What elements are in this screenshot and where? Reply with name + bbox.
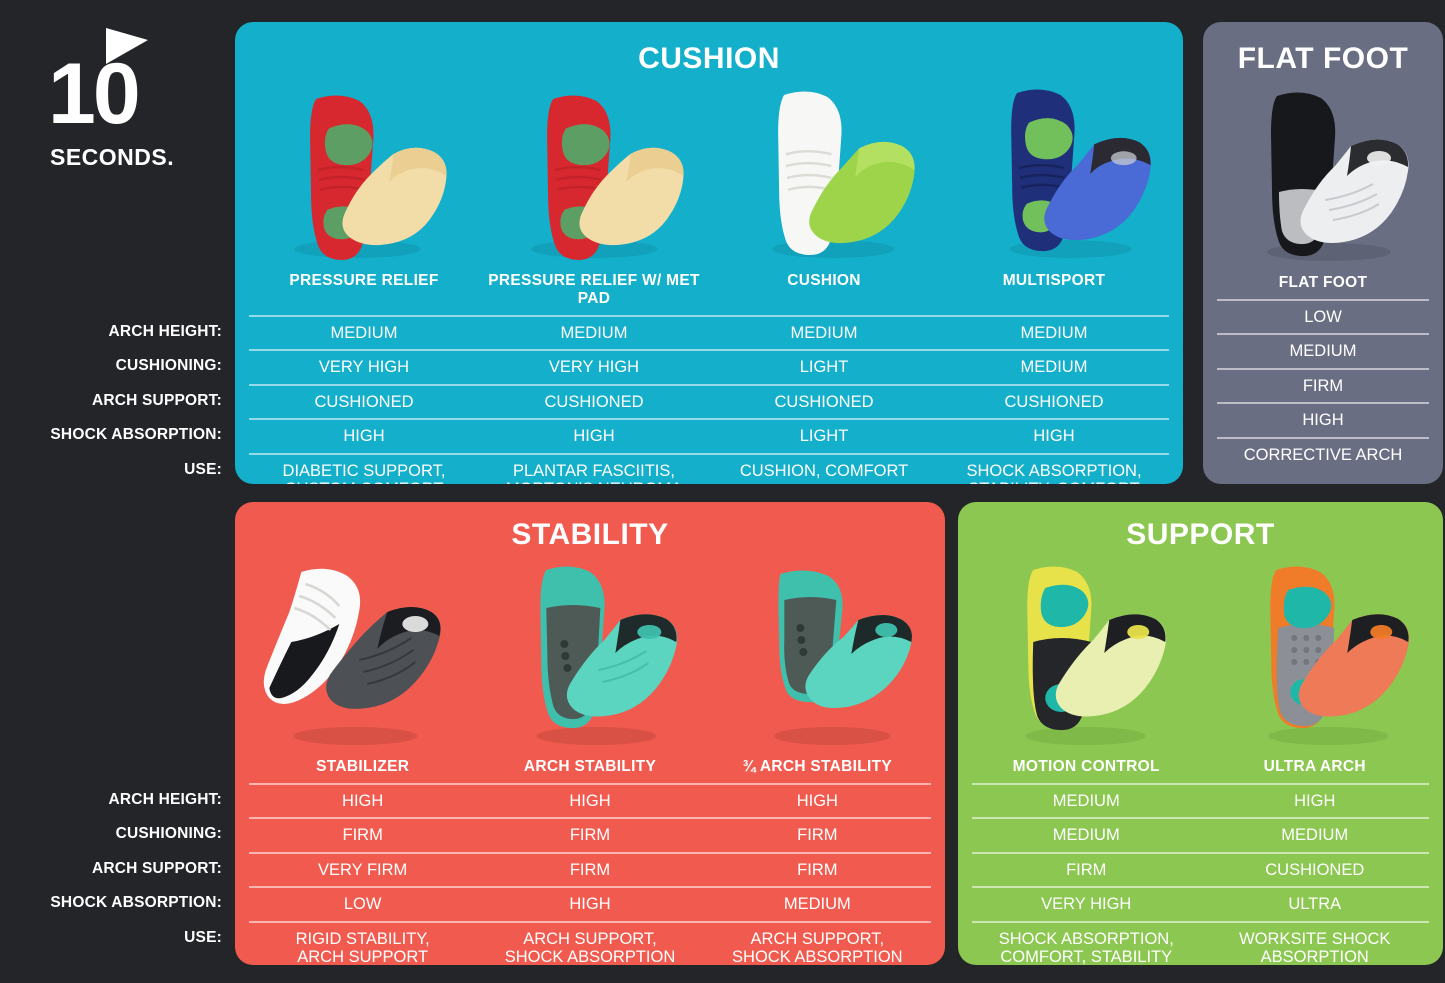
- table-row-arch-height: MEDIUMHIGH: [972, 783, 1429, 817]
- table-row-use: RIGID STABILITY,ARCH SUPPORTARCH SUPPORT…: [249, 921, 931, 965]
- product-images-stability: [235, 564, 945, 750]
- cell-shock-absorption: MEDIUM: [704, 886, 931, 920]
- cell-cushioning: VERY HIGH: [479, 349, 709, 383]
- cell-use: ARCH SUPPORT,SHOCK ABSORPTION: [476, 921, 703, 965]
- table-header-row-support: MOTION CONTROLULTRA ARCH: [972, 756, 1429, 783]
- product-image-motion-control: [958, 564, 1201, 750]
- row-label: USE:: [184, 461, 222, 479]
- panel-support: SUPPORT: [958, 502, 1443, 965]
- cell-use: SHOCK ABSORPTION,COMFORT, STABILITY: [972, 921, 1201, 965]
- panel-title-support: SUPPORT: [958, 518, 1443, 552]
- cell-shock-absorption: ULTRA: [1201, 886, 1430, 920]
- panel-title-flat-foot: FLAT FOOT: [1203, 42, 1443, 76]
- table-cushion: PRESSURE RELIEFPRESSURE RELIEF W/ MET PA…: [235, 270, 1183, 484]
- product-images-support: [958, 564, 1443, 750]
- column-header: ULTRA ARCH: [1201, 756, 1430, 783]
- cell-arch-support: FIRM: [704, 852, 931, 886]
- cell-arch-support: FIRM: [1217, 368, 1429, 402]
- column-header: STABILIZER: [249, 756, 476, 783]
- table-row-use: CORRECTIVE ARCH: [1217, 437, 1429, 468]
- cell-use: ARCH SUPPORT,SHOCK ABSORPTION: [704, 921, 931, 965]
- panel-stability: STABILITY: [235, 502, 945, 965]
- cell-arch-support: CUSHIONED: [1201, 852, 1430, 886]
- table-header-row-cushion: PRESSURE RELIEFPRESSURE RELIEF W/ MET PA…: [249, 270, 1169, 315]
- cell-use: SHOCK ABSORPTION,STABILITY, COMFORT: [939, 453, 1169, 484]
- product-image-ultra-arch: [1201, 564, 1444, 750]
- cell-arch-support: CUSHIONED: [479, 384, 709, 418]
- table-row-shock-absorption: VERY HIGHULTRA: [972, 886, 1429, 920]
- cell-use: DIABETIC SUPPORT,CUSTOM COMFORT: [249, 453, 479, 484]
- product-image-stabilizer: [235, 564, 472, 750]
- table-row-cushioning: FIRMFIRMFIRM: [249, 817, 931, 851]
- cell-arch-height: MEDIUM: [479, 315, 709, 349]
- table-row-arch-support: VERY FIRMFIRMFIRM: [249, 852, 931, 886]
- row-label: CUSHIONING:: [116, 357, 222, 375]
- product-image-flat-foot: [1203, 84, 1443, 266]
- table-row-arch-support: FIRMCUSHIONED: [972, 852, 1429, 886]
- cell-cushioning: FIRM: [704, 817, 931, 851]
- cell-arch-height: MEDIUM: [939, 315, 1169, 349]
- table-row-shock-absorption: HIGH: [1217, 402, 1429, 436]
- cell-cushioning: MEDIUM: [1201, 817, 1430, 851]
- panel-title-cushion: CUSHION: [235, 42, 1183, 76]
- cell-cushioning: FIRM: [476, 817, 703, 851]
- cell-cushioning: VERY HIGH: [249, 349, 479, 383]
- cell-arch-height: MEDIUM: [972, 783, 1201, 817]
- cell-shock-absorption: VERY HIGH: [972, 886, 1201, 920]
- cell-arch-support: FIRM: [476, 852, 703, 886]
- product-images-flat-foot: [1203, 84, 1443, 266]
- cell-arch-height: HIGH: [476, 783, 703, 817]
- table-header-row-flat-foot: FLAT FOOT: [1217, 272, 1429, 299]
- cell-cushioning: LIGHT: [709, 349, 939, 383]
- table-row-cushioning: MEDIUMMEDIUM: [972, 817, 1429, 851]
- table-support: MOTION CONTROLULTRA ARCH MEDIUMHIGH MEDI…: [958, 756, 1443, 965]
- product-image-multisport: [946, 84, 1183, 264]
- cell-arch-height: HIGH: [249, 783, 476, 817]
- column-header: FLAT FOOT: [1217, 272, 1429, 299]
- cell-arch-support: CUSHIONED: [709, 384, 939, 418]
- row-label: ARCH HEIGHT:: [109, 791, 222, 809]
- cell-shock-absorption: HIGH: [479, 418, 709, 452]
- row-label: ARCH SUPPORT:: [92, 860, 222, 878]
- product-images-cushion: [235, 84, 1183, 264]
- table-row-arch-height: HIGHHIGHHIGH: [249, 783, 931, 817]
- table-row-cushioning: MEDIUM: [1217, 333, 1429, 367]
- column-header: MOTION CONTROL: [972, 756, 1201, 783]
- cell-shock-absorption: HIGH: [1217, 402, 1429, 436]
- cell-shock-absorption: LOW: [249, 886, 476, 920]
- column-header: PRESSURE RELIEF: [249, 270, 479, 315]
- cell-cushioning: MEDIUM: [1217, 333, 1429, 367]
- row-label: SHOCK ABSORPTION:: [50, 426, 222, 444]
- table-row-shock-absorption: LOWHIGHMEDIUM: [249, 886, 931, 920]
- cell-use: CORRECTIVE ARCH: [1217, 437, 1429, 468]
- cell-use: CUSHION, COMFORT: [709, 453, 939, 484]
- cell-shock-absorption: HIGH: [476, 886, 703, 920]
- product-image-three-quarter-arch-stability: [708, 564, 945, 750]
- table-header-row-stability: STABILIZERARCH STABILITY¾ ARCH STABILITY: [249, 756, 931, 783]
- table-row-arch-height: MEDIUMMEDIUMMEDIUMMEDIUM: [249, 315, 1169, 349]
- row-label: SHOCK ABSORPTION:: [50, 894, 222, 912]
- cell-cushioning: MEDIUM: [972, 817, 1201, 851]
- column-header: ARCH STABILITY: [476, 756, 703, 783]
- table-stability: STABILIZERARCH STABILITY¾ ARCH STABILITY…: [235, 756, 945, 965]
- panel-title-stability: STABILITY: [235, 518, 945, 552]
- logo-number: 10: [48, 54, 138, 136]
- table-flat-foot: FLAT FOOT LOW MEDIUM FIRM HIGH CORRECTIV…: [1203, 272, 1443, 468]
- cell-arch-height: LOW: [1217, 299, 1429, 333]
- panel-flat-foot: FLAT FOOT FLAT FOOT LOW MEDIUM FIRM HIGH…: [1203, 22, 1443, 484]
- table-row-cushioning: VERY HIGHVERY HIGHLIGHTMEDIUM: [249, 349, 1169, 383]
- table-row-use: SHOCK ABSORPTION,COMFORT, STABILITYWORKS…: [972, 921, 1429, 965]
- table-row-use: DIABETIC SUPPORT,CUSTOM COMFORTPLANTAR F…: [249, 453, 1169, 484]
- cell-cushioning: MEDIUM: [939, 349, 1169, 383]
- product-image-pressure-relief: [235, 84, 472, 264]
- cell-arch-height: MEDIUM: [249, 315, 479, 349]
- logo-wordmark: SECONDS.: [50, 144, 174, 171]
- cell-shock-absorption: LIGHT: [709, 418, 939, 452]
- cell-arch-support: CUSHIONED: [939, 384, 1169, 418]
- column-header: CUSHION: [709, 270, 939, 315]
- cell-cushioning: FIRM: [249, 817, 476, 851]
- cell-arch-height: HIGH: [1201, 783, 1430, 817]
- table-row-shock-absorption: HIGHHIGHLIGHTHIGH: [249, 418, 1169, 452]
- cell-use: PLANTAR FASCIITIS,MORTON’S NEUROMA: [479, 453, 709, 484]
- cell-shock-absorption: HIGH: [939, 418, 1169, 452]
- table-row-arch-support: FIRM: [1217, 368, 1429, 402]
- row-label: ARCH HEIGHT:: [109, 323, 222, 341]
- product-image-cushion: [709, 84, 946, 264]
- table-row-arch-support: CUSHIONEDCUSHIONEDCUSHIONEDCUSHIONED: [249, 384, 1169, 418]
- row-label: USE:: [184, 929, 222, 947]
- cell-arch-support: CUSHIONED: [249, 384, 479, 418]
- cell-use: WORKSITE SHOCKABSORPTION: [1201, 921, 1430, 965]
- column-header: ¾ ARCH STABILITY: [704, 756, 931, 783]
- product-image-arch-stability: [472, 564, 709, 750]
- panel-cushion: CUSHION: [235, 22, 1183, 484]
- cell-arch-height: MEDIUM: [709, 315, 939, 349]
- column-header: MULTISPORT: [939, 270, 1169, 315]
- row-label: ARCH SUPPORT:: [92, 392, 222, 410]
- cell-shock-absorption: HIGH: [249, 418, 479, 452]
- product-image-pressure-relief-met-pad: [472, 84, 709, 264]
- brand-logo: 10 SECONDS.: [30, 18, 210, 168]
- column-header: PRESSURE RELIEF W/ MET PAD: [479, 270, 709, 315]
- table-row-arch-height: LOW: [1217, 299, 1429, 333]
- row-label: CUSHIONING:: [116, 825, 222, 843]
- cell-arch-support: VERY FIRM: [249, 852, 476, 886]
- cell-use: RIGID STABILITY,ARCH SUPPORT: [249, 921, 476, 965]
- cell-arch-support: FIRM: [972, 852, 1201, 886]
- cell-arch-height: HIGH: [704, 783, 931, 817]
